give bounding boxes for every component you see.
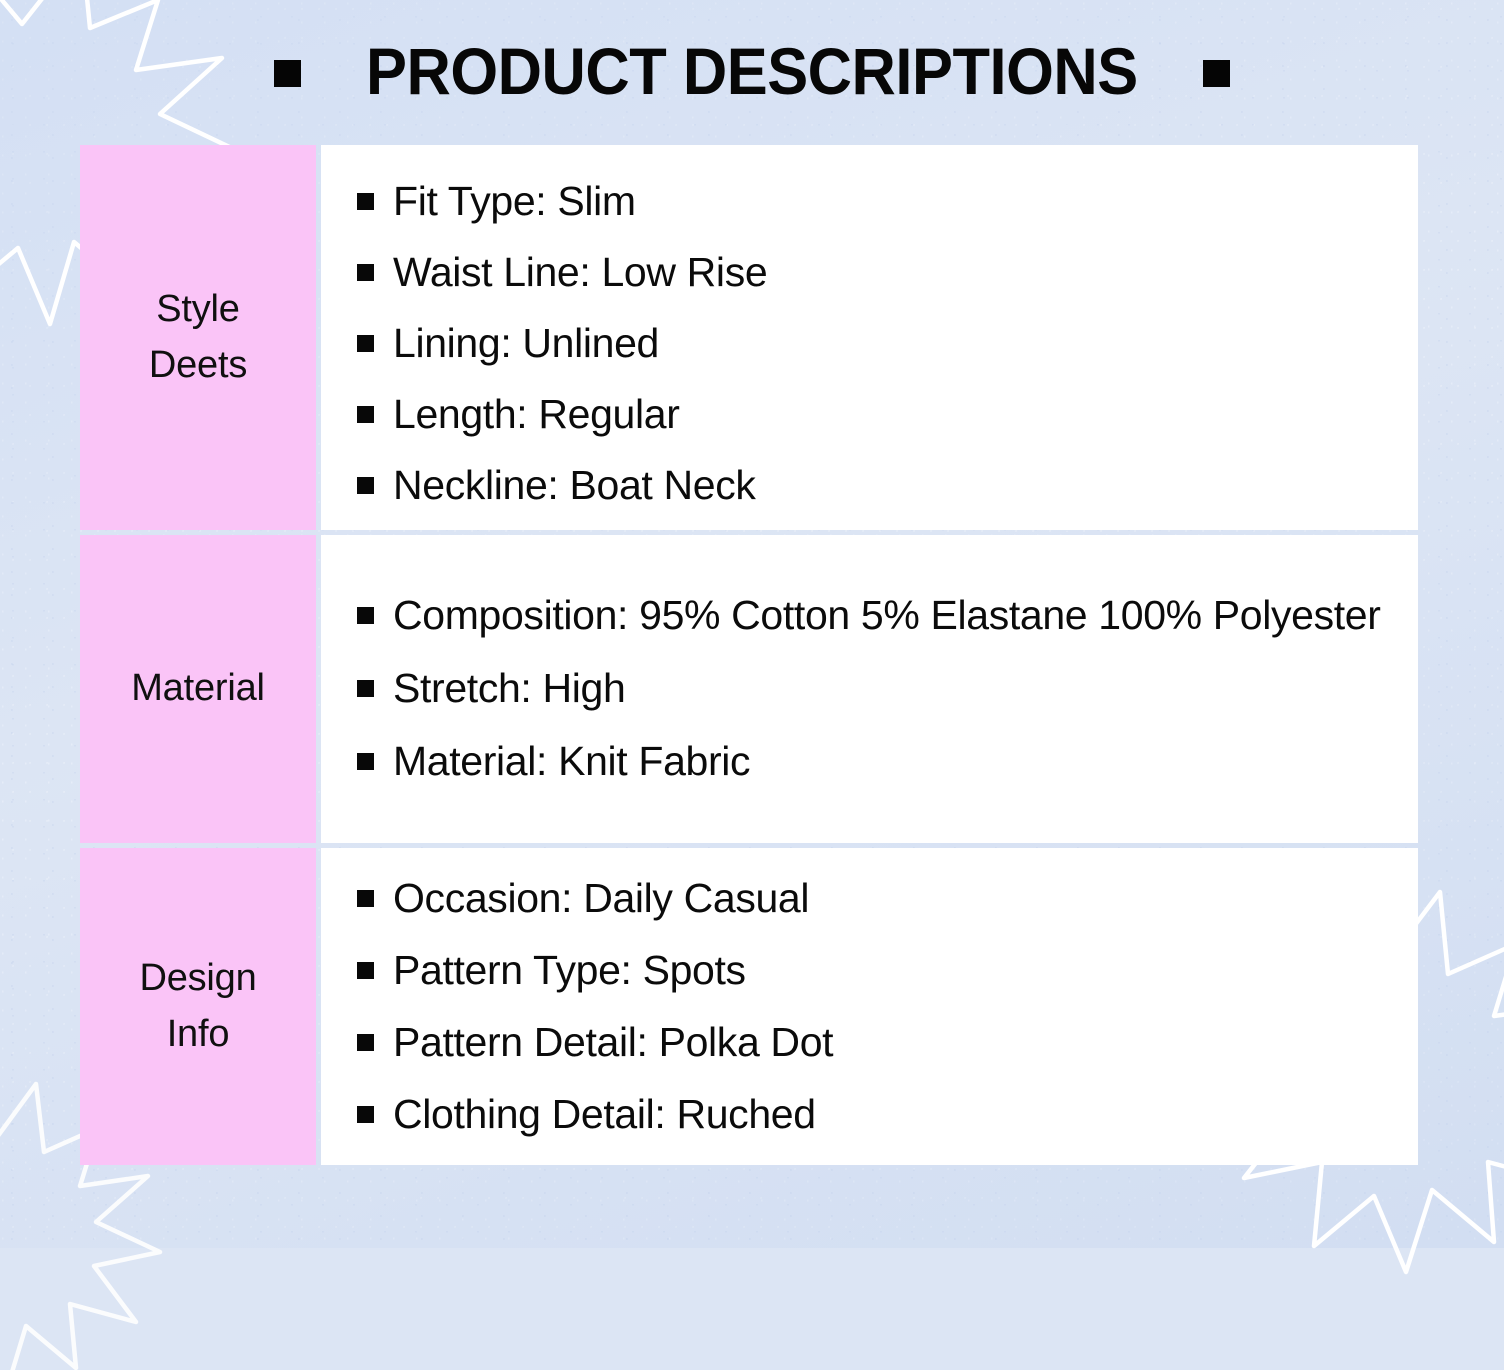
square-bullet-icon xyxy=(357,753,374,770)
square-bullet-icon xyxy=(357,335,374,352)
square-bullet-icon xyxy=(357,1034,374,1051)
page-header: PRODUCT DESCRIPTIONS xyxy=(0,28,1504,114)
square-bullet-icon xyxy=(357,890,374,907)
list-item: Waist Line: Low Rise xyxy=(357,237,1392,308)
list-item: Pattern Type: Spots xyxy=(357,935,1392,1007)
row-label-text: Material xyxy=(131,661,265,716)
row-label-line-1: Style xyxy=(149,282,247,337)
list-item: Occasion: Daily Casual xyxy=(357,863,1392,935)
table-row: Material Composition: 95% Cotton 5% Elas… xyxy=(80,535,1418,843)
list-item-label: Occasion: Daily Casual xyxy=(393,870,809,927)
list-item-label: Length: Regular xyxy=(393,386,680,443)
table-row: Style Deets Fit Type: Slim Waist Line: L… xyxy=(80,145,1418,530)
row-label-line-2: Deets xyxy=(149,338,247,393)
row-content-material: Composition: 95% Cotton 5% Elastane 100%… xyxy=(321,535,1418,843)
list-item-label: Composition: 95% Cotton 5% Elastane 100%… xyxy=(393,587,1381,644)
list-item-label: Stretch: High xyxy=(393,660,625,717)
product-descriptions-table: Style Deets Fit Type: Slim Waist Line: L… xyxy=(80,145,1418,1165)
square-bullet-icon xyxy=(357,680,374,697)
row-content-design-info: Occasion: Daily Casual Pattern Type: Spo… xyxy=(321,848,1418,1165)
row-label-design-info: Design Info xyxy=(80,848,316,1165)
list-item: Composition: 95% Cotton 5% Elastane 100%… xyxy=(357,579,1392,652)
square-bullet-icon xyxy=(357,264,374,281)
row-label-line-1: Design xyxy=(139,951,256,1006)
list-item-label: Neckline: Boat Neck xyxy=(393,457,756,514)
square-bullet-icon xyxy=(357,477,374,494)
list-item: Clothing Detail: Ruched xyxy=(357,1079,1392,1151)
square-bullet-icon xyxy=(357,607,374,624)
list-item-label: Fit Type: Slim xyxy=(393,173,636,230)
row-label-line-1: Material xyxy=(131,661,265,716)
row-label-material: Material xyxy=(80,535,316,843)
square-bullet-icon-left xyxy=(274,60,301,87)
list-item-label: Pattern Detail: Polka Dot xyxy=(393,1014,833,1071)
row-label-text: Style Deets xyxy=(149,282,247,392)
square-bullet-icon xyxy=(357,193,374,210)
list-item-label: Material: Knit Fabric xyxy=(393,733,750,790)
square-bullet-icon xyxy=(357,1106,374,1123)
list-item-label: Waist Line: Low Rise xyxy=(393,244,767,301)
list-item: Lining: Unlined xyxy=(357,308,1392,379)
list-item-label: Clothing Detail: Ruched xyxy=(393,1086,816,1143)
list-item: Fit Type: Slim xyxy=(357,166,1392,237)
list-item-label: Lining: Unlined xyxy=(393,315,659,372)
list-item-label: Pattern Type: Spots xyxy=(393,942,746,999)
square-bullet-icon-right xyxy=(1203,60,1230,87)
square-bullet-icon xyxy=(357,406,374,423)
row-label-text: Design Info xyxy=(139,951,256,1061)
list-item: Neckline: Boat Neck xyxy=(357,450,1392,521)
row-label-style-deets: Style Deets xyxy=(80,145,316,530)
row-label-line-2: Info xyxy=(139,1007,256,1062)
list-item: Length: Regular xyxy=(357,379,1392,450)
row-content-style-deets: Fit Type: Slim Waist Line: Low Rise Lini… xyxy=(321,145,1418,530)
page-title: PRODUCT DESCRIPTIONS xyxy=(366,38,1138,104)
list-item: Material: Knit Fabric xyxy=(357,725,1392,798)
table-row: Design Info Occasion: Daily Casual Patte… xyxy=(80,848,1418,1165)
list-item: Stretch: High xyxy=(357,652,1392,725)
square-bullet-icon xyxy=(357,962,374,979)
list-item: Pattern Detail: Polka Dot xyxy=(357,1007,1392,1079)
